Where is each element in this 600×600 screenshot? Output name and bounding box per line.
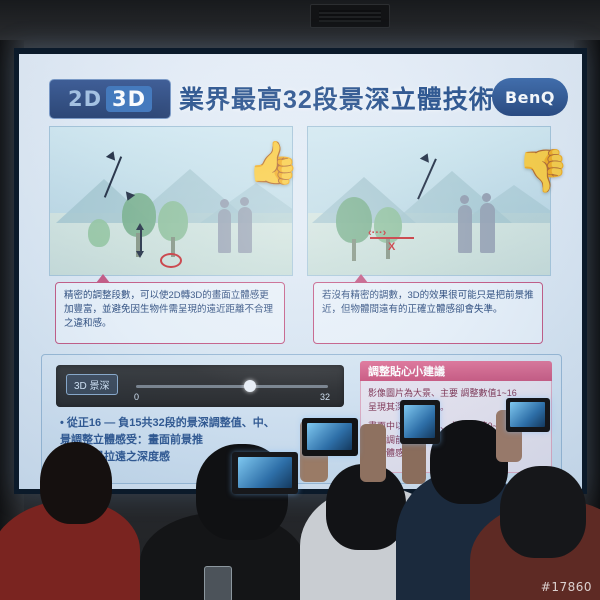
depth-slider-knob [244,380,256,392]
logo-2d3d: 2D 3D [49,79,171,119]
person-silhouette [458,205,472,253]
tree-shape [88,219,110,247]
bullet-item: 畫面背景拉遠之深度感 [60,449,348,466]
highlight-ellipse [160,253,182,268]
bullet-list: • 從正16 — 負15共32段的景深調整值、中、 景調整立體感受：畫面前景推 … [60,415,348,466]
slide-bottom-section: 3D 景深 0 32 • 從正16 — 負15共32段的景深調整值、中、 景調整… [41,354,562,484]
person-head [220,199,229,208]
callout-tail [354,274,368,283]
tips-header: 調整貼心小建議 [360,361,552,381]
watermark: #17860 [541,580,592,594]
callout-tail [96,274,110,283]
cross-marker: X [388,241,395,253]
person-silhouette [480,203,495,253]
depth-arrow-head [136,251,144,258]
depth-slider-min: 0 [134,392,139,402]
projection-screen: 2D 3D 業界最高32段景深立體技術 BenQ [19,54,582,489]
logo-2d-text: 2D [68,87,102,111]
depth-slider-max: 32 [320,392,330,402]
tips-line: 需強調前景與後方物件 [368,434,544,448]
tips-line: 的立體感。 [368,447,544,461]
bullet-item: • 從正16 — 負15共32段的景深調整值、中、 [60,415,348,432]
tips-line: 呈現其深遠立體感。 [368,401,544,415]
depth-slider-panel: 3D 景深 0 32 [56,365,344,407]
person-head [240,197,249,206]
person-head [460,195,469,204]
photo-scene: 2D 3D 業界最高32段景深立體技術 BenQ [0,0,600,600]
presentation-slide: 2D 3D 業界最高32段景深立體技術 BenQ [19,54,582,489]
depth-slider-track [136,385,328,388]
tips-line: 畫面中以前景為主、 調整數值0~15 [368,420,544,434]
bullet-item: 景調整立體感受：畫面前景推 [60,432,348,449]
logo-3d-text: 3D [106,86,152,112]
person-head [482,193,491,202]
depth-arrow-head [136,223,144,230]
person-silhouette [238,207,252,253]
slide-title: 業界最高32段景深立體技術 [179,80,495,116]
callout-left: 精密的調整段數，可以使2D轉3D的畫面立體感更加豐富，並避免因生物件需呈現的遠近… [55,282,285,344]
slide-image-right: ‹···› X [307,126,551,276]
benq-logo: BenQ [492,78,568,116]
ceiling-vent [310,4,390,28]
thumbs-up-icon: 👍 [247,142,299,184]
callout-right: 若沒有精密的調數，3D的效果很可能只是把前景推近，但物體間遠有的正確立體感卻會失… [313,282,543,344]
tips-line: 影像圖片為大景、主要 調整數值1~16 [368,387,544,401]
thumbs-down-icon: 👎 [517,150,569,192]
person-silhouette [218,209,231,253]
tree-shape [158,201,188,241]
callout-right-text: 若沒有精密的調數，3D的效果很可能只是把前景推近，但物體間遠有的正確立體感卻會失… [322,290,534,315]
tree-trunk [352,239,356,261]
depth-slider-label: 3D 景深 [66,374,118,395]
short-depth-dots: ‹···› [368,227,386,239]
tips-body: 影像圖片為大景、主要 調整數值1~16 呈現其深遠立體感。 畫面中以前景為主、 … [360,381,552,473]
callout-left-text: 精密的調整段數，可以使2D轉3D的畫面立體感更加豐富，並避免因生物件需呈現的遠近… [64,290,273,329]
tree-shape [336,197,372,243]
